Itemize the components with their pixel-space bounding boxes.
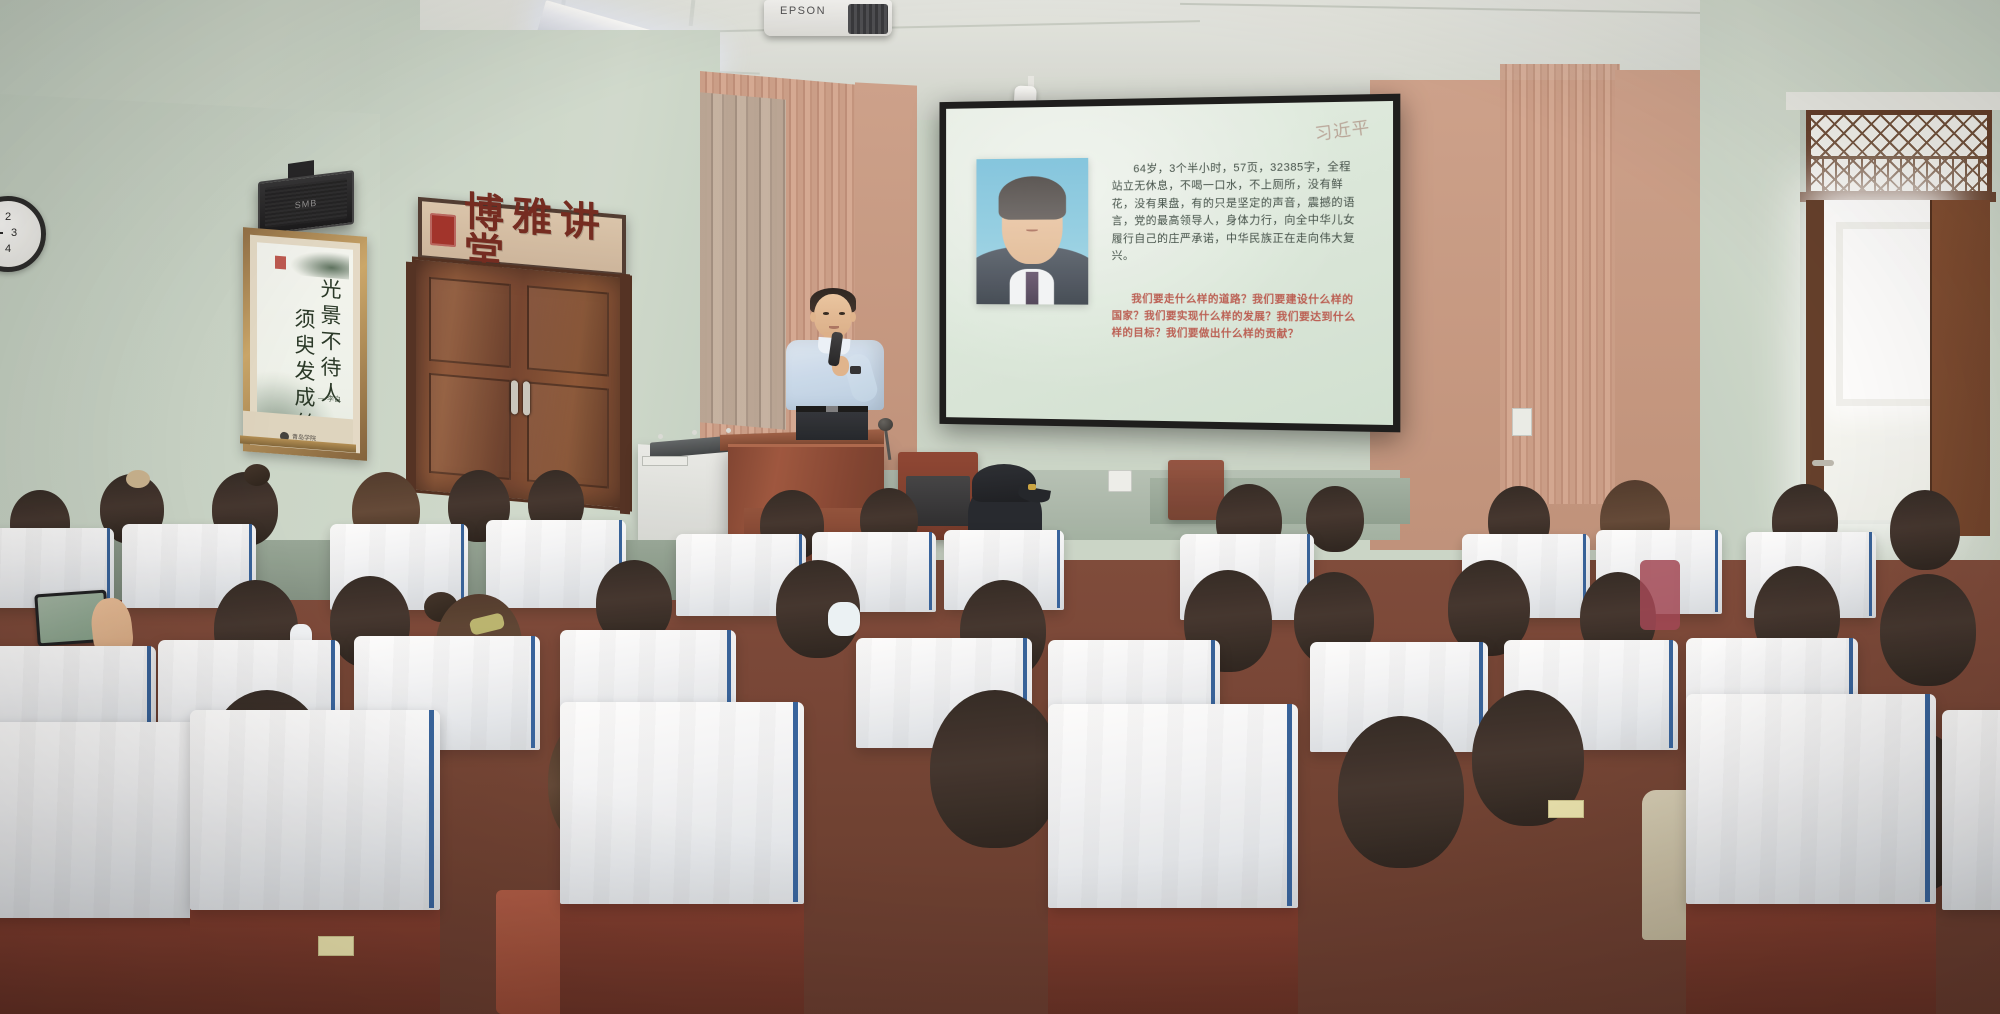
chair-cover[interactable] <box>1048 704 1298 908</box>
chair-back-wood <box>560 890 804 1014</box>
door-handle[interactable] <box>511 380 518 415</box>
lecture-hall-photo: EPSON 2 3 4 SMB 光景不待人 须臾发成丝 — 李白 <box>0 0 2000 1014</box>
face-mask <box>828 602 860 636</box>
seat-number-tag <box>318 936 354 956</box>
portrait-tie <box>1026 272 1038 304</box>
projection-screen-frame: 习近平 64岁，3个半小时，57页，32385字，全程站立无休息，不喝一口水，不… <box>939 94 1400 433</box>
transom-window <box>1806 110 1992 196</box>
lattice-vertical-bars <box>1811 156 1987 191</box>
presenter-eye <box>823 312 829 315</box>
ink-wash-top <box>291 249 349 280</box>
slide-body-text: 64岁，3个半小时，57页，32385字，全程站立无休息，不喝一口水，不上厕所，… <box>1112 159 1360 266</box>
presenter-ear <box>810 312 816 322</box>
seat-number-tag <box>1548 800 1584 818</box>
wall-outlet[interactable] <box>1108 470 1132 492</box>
poster-seal <box>275 256 286 270</box>
portrait-mouth <box>1027 229 1038 231</box>
chair-cover[interactable] <box>1942 710 2000 910</box>
chair-piping <box>1287 704 1292 906</box>
chair-cover[interactable] <box>0 722 220 918</box>
chair-cover[interactable] <box>1686 694 1936 904</box>
control-desk-label <box>642 456 688 466</box>
door-panel <box>429 373 511 480</box>
chair-back-wood <box>1686 890 1936 1014</box>
projector-brand-label: EPSON <box>780 5 826 17</box>
chair-cover[interactable] <box>560 702 804 904</box>
chair-back-wood <box>1048 896 1298 1014</box>
chair-piping <box>793 702 798 902</box>
chair-cover[interactable] <box>190 710 440 910</box>
door-panel <box>429 277 511 368</box>
clock-hand <box>0 232 3 234</box>
desk-knob[interactable] <box>726 428 731 433</box>
cap-logo <box>1028 484 1036 490</box>
projector: EPSON <box>764 0 892 36</box>
portrait-hair <box>999 176 1066 220</box>
presenter-ear <box>850 312 856 322</box>
clock-numeral: 3 <box>11 227 17 239</box>
presenter-watch <box>850 366 861 374</box>
projection-screen: 习近平 64岁，3个半小时，57页，32385字，全程站立无休息，不喝一口水，不… <box>946 101 1393 425</box>
presenter-eye <box>839 312 845 315</box>
red-garment <box>1640 560 1680 630</box>
door-panel <box>527 285 609 376</box>
clock-numeral: 2 <box>5 211 11 223</box>
slide-highlight-text: 我们要走什么样的道路？我们要建设什么样的国家？我们要实现什么样的发展？我们要达到… <box>1112 291 1360 343</box>
exterior-window <box>1836 222 1938 406</box>
presenter-mouth <box>829 326 839 329</box>
chair-piping <box>1925 694 1930 902</box>
desk-knob[interactable] <box>692 430 697 435</box>
poster-attribution: — 李白 <box>318 393 341 405</box>
door-handle[interactable] <box>523 381 530 416</box>
chair-piping <box>429 710 434 908</box>
banner-seal <box>430 213 456 247</box>
chair-row-near <box>0 800 2000 1014</box>
presenter <box>770 288 906 438</box>
wood-slat-wall-right <box>1500 64 1620 504</box>
chair-back-wood <box>190 900 440 1014</box>
hair-clip <box>126 470 150 488</box>
hair-bun <box>244 464 270 486</box>
wood-panel-far-right <box>1615 70 1711 520</box>
door-header-trim <box>1786 92 2000 110</box>
slide-portrait <box>976 158 1088 305</box>
slide-signature: 习近平 <box>1313 112 1371 145</box>
light-switch[interactable] <box>1512 408 1532 436</box>
desk-knob[interactable] <box>658 434 663 439</box>
clock-numeral: 4 <box>5 243 11 255</box>
chair-back-wood <box>0 910 220 1014</box>
projector-lens <box>848 4 888 34</box>
presenter-trousers <box>796 412 868 440</box>
door-handle[interactable] <box>1812 460 1834 466</box>
